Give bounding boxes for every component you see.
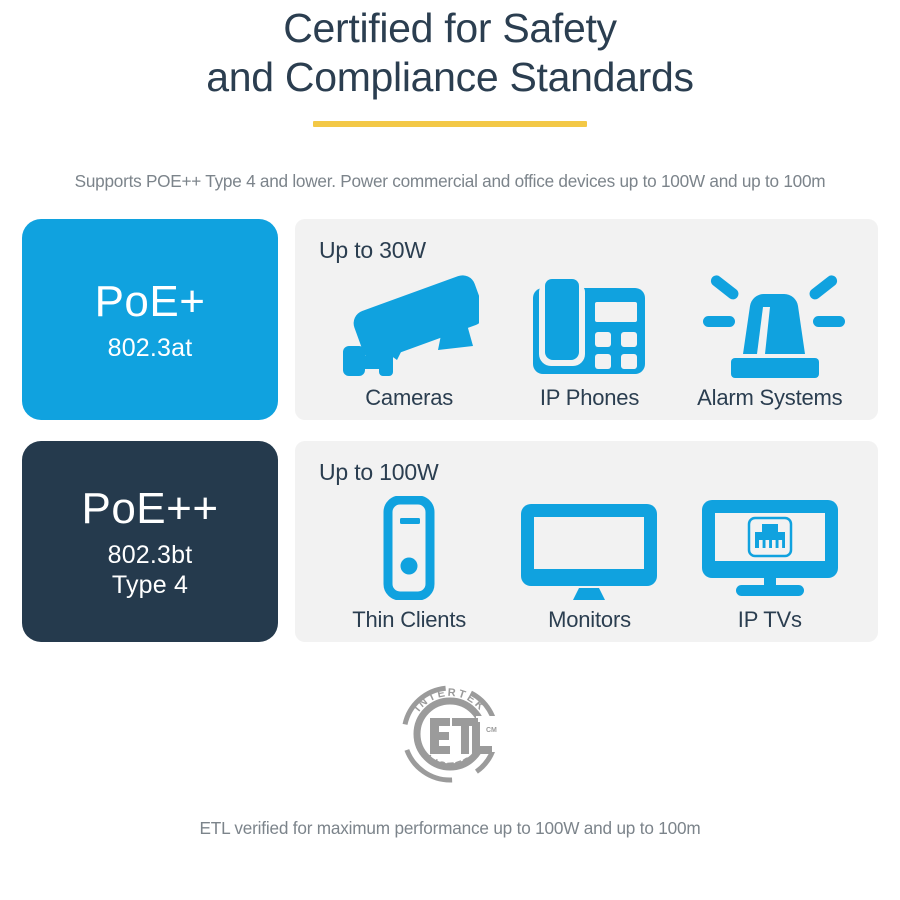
device-label-thin-clients: Thin Clients: [352, 606, 466, 634]
badge-poe-plus-name: PoE+: [95, 277, 206, 327]
panel-up-to-30w: Up to 30W: [295, 219, 878, 420]
etl-superscript: CM: [486, 727, 497, 734]
device-label-ip-tvs: IP TVs: [738, 606, 802, 634]
badge-poe-plus-standard: 802.3at: [108, 333, 193, 363]
device-cell-monitors: Monitors: [499, 492, 679, 634]
device-cell-alarm-systems: Alarm Systems: [680, 270, 860, 412]
device-label-monitors: Monitors: [548, 606, 631, 634]
subtitle-text: Supports POE++ Type 4 and lower. Power c…: [0, 170, 900, 192]
etl-bottom-arc-text: LISTED: [423, 753, 477, 773]
tier-row-poe-plus-plus: PoE++ 802.3bt Type 4 Up to 100W: [22, 441, 878, 642]
alarm-siren-icon: [695, 270, 845, 382]
etl-intertek-listed-logo: INTERTEK LISTED CM: [394, 678, 506, 790]
badge-poe-plus-plus-standard: 802.3bt: [108, 540, 193, 570]
device-cell-ip-tvs: IP TVs: [680, 492, 860, 634]
footer-note-text: ETL verified for maximum performance up …: [0, 817, 900, 839]
svg-text:LISTED: LISTED: [423, 753, 477, 773]
poe-certification-infographic: Certified for Safety and Compliance Stan…: [0, 0, 900, 900]
page-footer: INTERTEK LISTED CM ETL verified for maxi…: [0, 678, 900, 839]
panel-heading-100w: Up to 100W: [319, 458, 860, 486]
monitor-icon: [521, 492, 657, 604]
badge-poe-plus: PoE+ 802.3at: [22, 219, 278, 420]
device-label-ip-phones: IP Phones: [540, 384, 639, 412]
desk-phone-icon: [533, 270, 645, 382]
security-camera-icon: [339, 270, 479, 382]
ip-tv-icon: [702, 492, 838, 604]
device-cell-cameras: Cameras: [319, 270, 499, 412]
badge-poe-plus-plus-type: Type 4: [112, 570, 188, 600]
title-underline-rule: [313, 121, 587, 127]
badge-poe-plus-plus: PoE++ 802.3bt Type 4: [22, 441, 278, 642]
device-grid-30w: Cameras: [319, 270, 860, 412]
device-label-alarm-systems: Alarm Systems: [697, 384, 842, 412]
panel-up-to-100w: Up to 100W Thin Clients: [295, 441, 878, 642]
panel-heading-30w: Up to 30W: [319, 236, 860, 264]
device-label-cameras: Cameras: [365, 384, 453, 412]
device-grid-100w: Thin Clients: [319, 492, 860, 634]
page-header: Certified for Safety and Compliance Stan…: [0, 0, 900, 127]
page-title-line-1: Certified for Safety: [0, 4, 900, 53]
thin-client-icon: [374, 492, 444, 604]
device-cell-thin-clients: Thin Clients: [319, 492, 499, 634]
device-cell-ip-phones: IP Phones: [499, 270, 679, 412]
badge-poe-plus-plus-name: PoE++: [81, 484, 218, 534]
tier-row-poe-plus: PoE+ 802.3at Up to 30W: [22, 219, 878, 420]
poe-tier-list: PoE+ 802.3at Up to 30W: [0, 219, 900, 642]
page-title-line-2: and Compliance Standards: [0, 53, 900, 102]
